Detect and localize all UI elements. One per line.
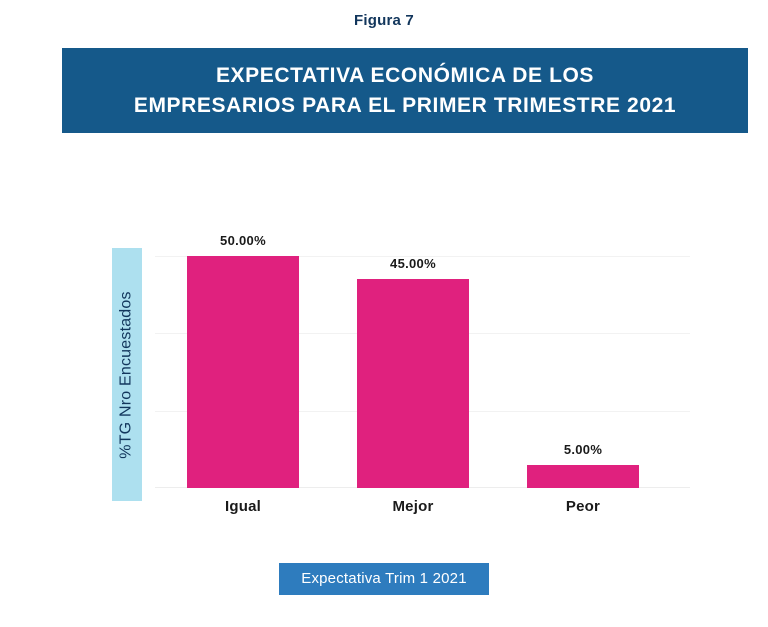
bar-value-label: 45.00%	[357, 256, 469, 271]
legend-item-expectativa[interactable]: Expectativa Trim 1 2021	[279, 563, 489, 595]
bar-mejor[interactable]	[357, 279, 469, 488]
bar-value-label: 50.00%	[187, 233, 299, 248]
plot-area: 50.00% 45.00% 5.00%	[155, 256, 690, 488]
bar-group-igual: 50.00%	[187, 256, 299, 488]
category-label-igual: Igual	[187, 498, 299, 515]
category-label-peor: Peor	[527, 498, 639, 515]
y-axis-label: %TG Nro Encuestados	[112, 248, 142, 501]
bar-peor[interactable]	[527, 465, 639, 488]
chart-title-banner: EXPECTATIVA ECONÓMICA DE LOS EMPRESARIOS…	[62, 48, 748, 133]
chart-title-line-2: EMPRESARIOS PARA EL PRIMER TRIMESTRE 202…	[134, 91, 676, 121]
chart-title-line-1: EXPECTATIVA ECONÓMICA DE LOS	[216, 61, 594, 91]
bar-group-peor: 5.00%	[527, 256, 639, 488]
chart-legend: Expectativa Trim 1 2021	[0, 563, 768, 595]
figure-caption: Figura 7	[0, 12, 768, 29]
bar-group-mejor: 45.00%	[357, 256, 469, 488]
bar-chart: %TG Nro Encuestados 50.00% 45.00% 5.00% …	[0, 180, 768, 627]
category-label-mejor: Mejor	[357, 498, 469, 515]
bar-igual[interactable]	[187, 256, 299, 488]
bar-value-label: 5.00%	[527, 442, 639, 457]
y-axis-label-text: %TG Nro Encuestados	[118, 291, 136, 458]
category-axis: Igual Mejor Peor	[155, 498, 690, 528]
